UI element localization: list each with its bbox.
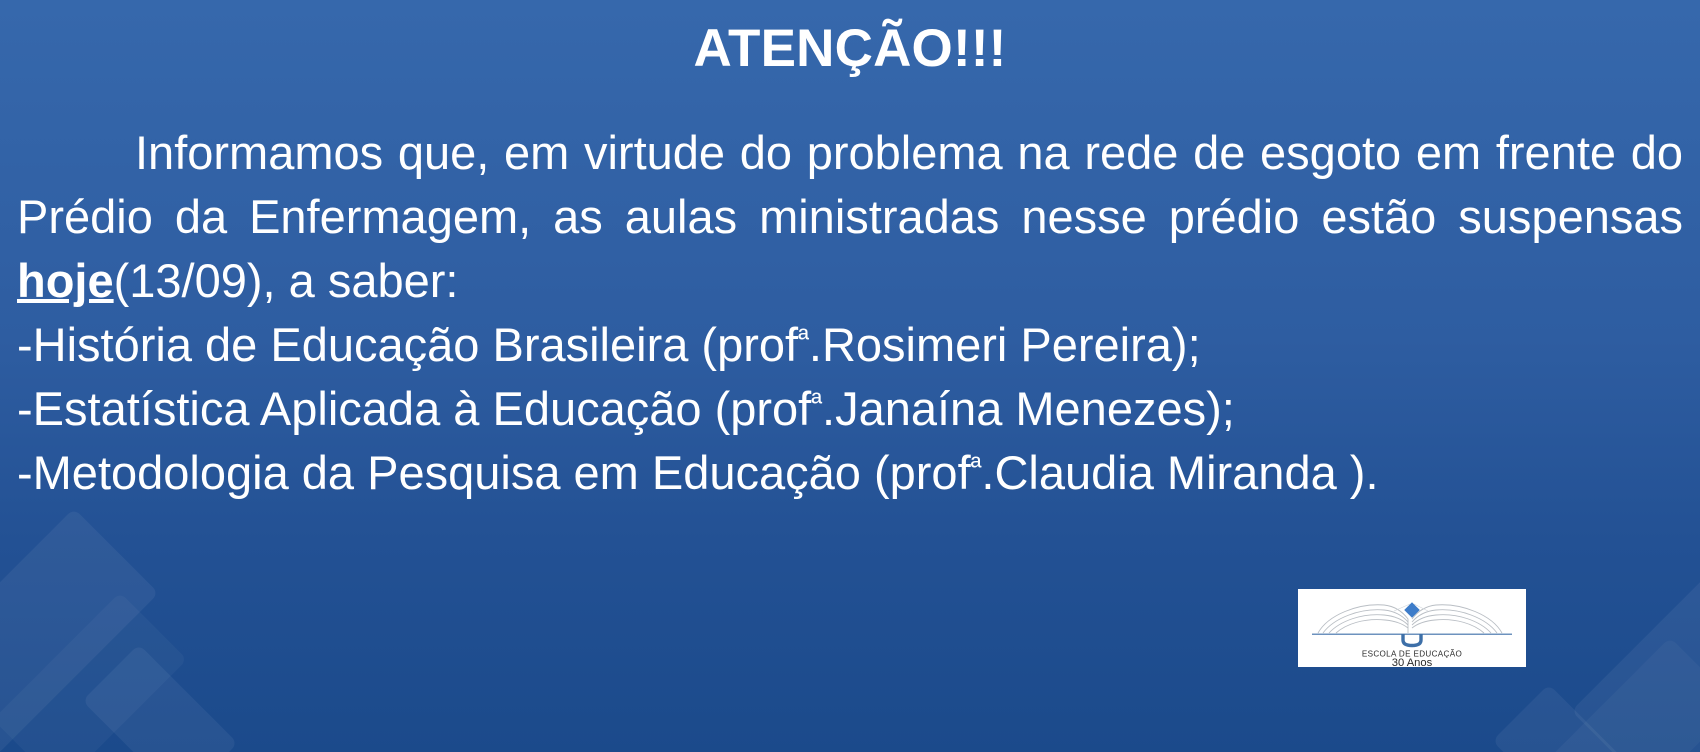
course-bullet-prefix: -	[17, 382, 33, 435]
course-teacher-name: Rosimeri Pereira	[822, 318, 1172, 371]
announcement-text-lead: Informamos que, em virtude do problema n…	[17, 126, 1683, 243]
course-close-paren: );	[1206, 382, 1235, 435]
course-name: Estatística Aplicada à Educação	[33, 382, 702, 435]
course-open-paren: (	[702, 382, 731, 435]
announcement-paragraph: Informamos que, em virtude do problema n…	[17, 121, 1683, 313]
course-close-paren: ).	[1350, 446, 1379, 499]
course-separator: .	[981, 446, 994, 499]
ordinal-indicator: ª	[971, 452, 982, 484]
course-bullet-prefix: -	[17, 446, 33, 499]
course-list-item: -Estatística Aplicada à Educação (profª.…	[17, 377, 1683, 441]
course-teacher-title: prof	[730, 382, 811, 435]
logo-artwork: ESCOLA DE EDUCAÇÃO 30 Anos	[1298, 589, 1526, 667]
escola-de-educacao-logo: ESCOLA DE EDUCAÇÃO 30 Anos	[1298, 589, 1526, 667]
course-open-paren: (	[861, 446, 890, 499]
course-separator: .	[822, 382, 835, 435]
course-name: História de Educação Brasileira	[33, 318, 689, 371]
course-close-paren: );	[1172, 318, 1201, 371]
presentation-slide: ATENÇÃO!!! Informamos que, em virtude do…	[0, 0, 1700, 752]
course-list-item: -História de Educação Brasileira (profª.…	[17, 313, 1683, 377]
diamond-accent-icon	[1404, 602, 1420, 618]
announcement-emphasis-hoje: hoje	[17, 254, 114, 307]
course-separator: .	[809, 318, 822, 371]
course-open-paren: (	[688, 318, 717, 371]
course-name: Metodologia da Pesquisa em Educação	[33, 446, 861, 499]
course-bullet-prefix: -	[17, 318, 33, 371]
ordinal-indicator: ª	[811, 388, 822, 420]
course-teacher-name: Janaína Menezes	[835, 382, 1206, 435]
course-teacher-title: prof	[717, 318, 798, 371]
course-teacher-name: Claudia Miranda	[994, 446, 1349, 499]
announcement-text-tail: (13/09), a saber:	[114, 254, 459, 307]
slide-body: Informamos que, em virtude do problema n…	[17, 121, 1683, 505]
ordinal-indicator: ª	[798, 324, 809, 356]
course-list-item: -Metodologia da Pesquisa em Educação (pr…	[17, 441, 1683, 505]
course-teacher-title: prof	[890, 446, 971, 499]
logo-line-2: 30 Anos	[1392, 657, 1433, 667]
slide-title: ATENÇÃO!!!	[0, 20, 1700, 77]
